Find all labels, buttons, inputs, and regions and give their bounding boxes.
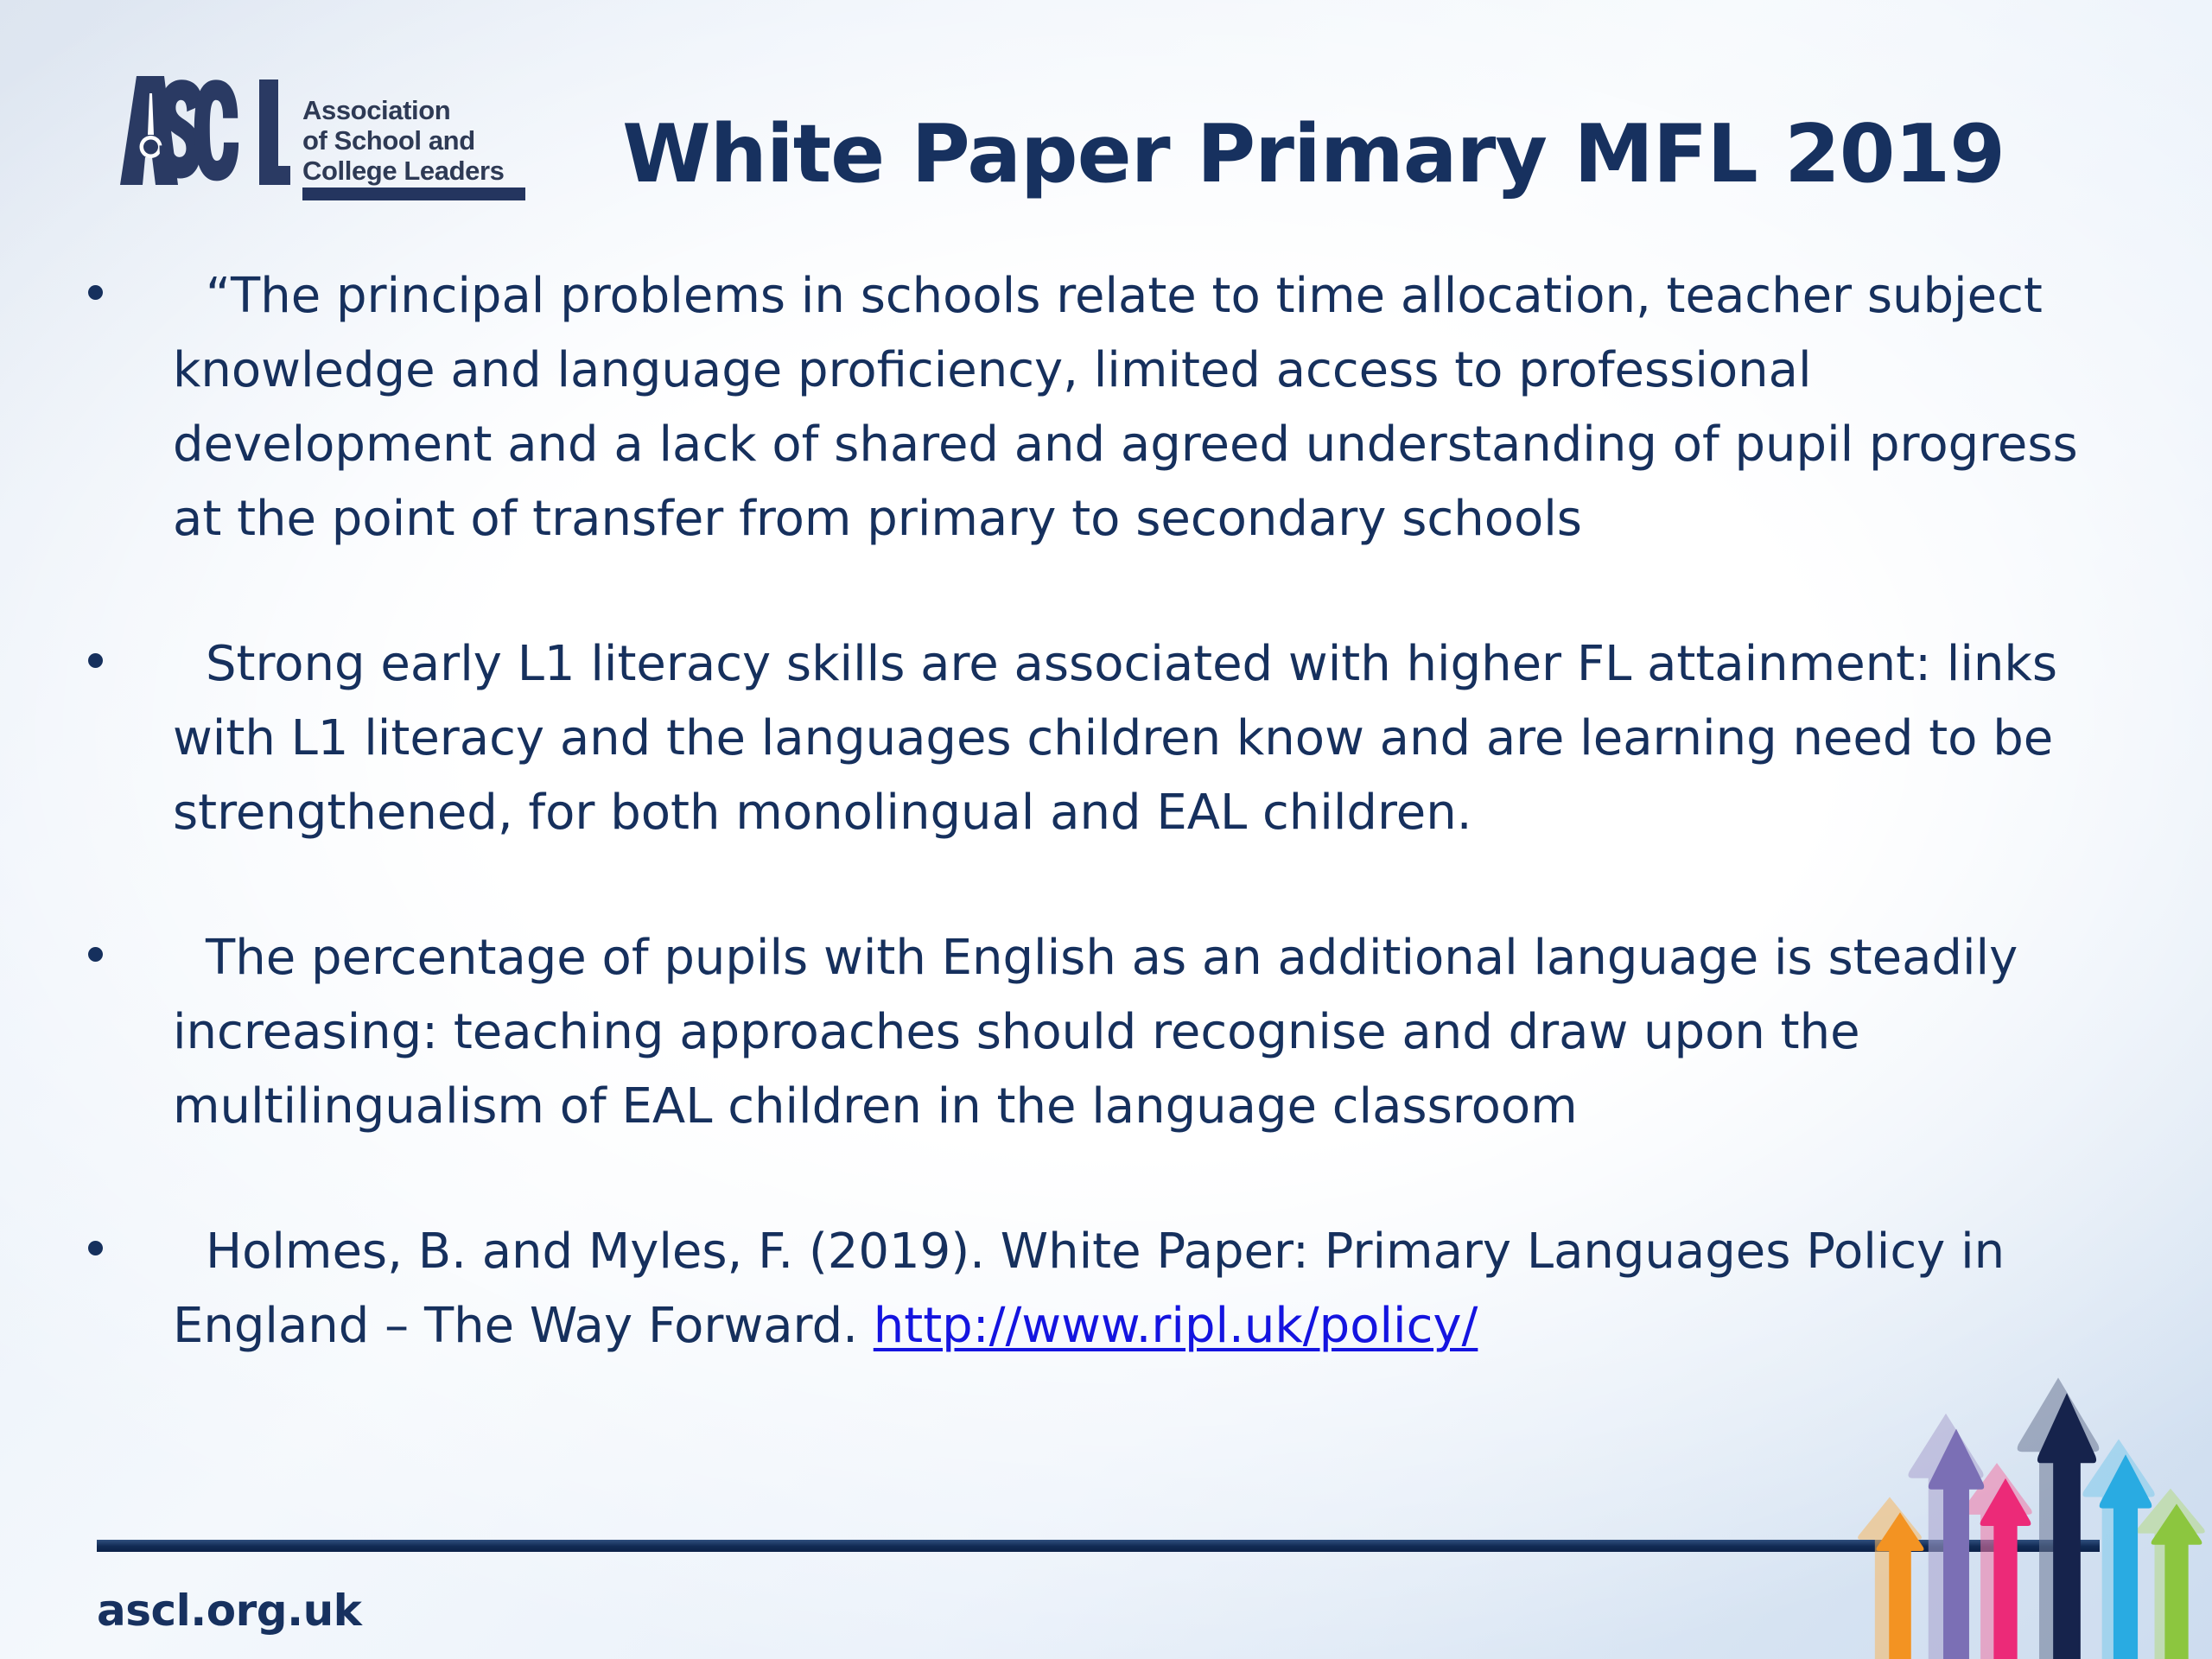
bullet-dot-icon [88,285,103,300]
navy-arrow [2037,1393,2096,1659]
logo-underline-bar [302,188,525,200]
logo-word-line-2: of School and [302,125,525,156]
ascl-logo-wordmark: Association of School and College Leader… [302,95,525,186]
green-arrow-shadow [2136,1489,2205,1659]
bullet-text-reference: Holmes, B. and Myles, F. (2019). White P… [173,1215,2108,1363]
ascl-logo: Association of School and College Leader… [111,74,524,200]
bullet-text: “The principal problems in schools relat… [173,259,2108,556]
ascl-logo-mark-icon [111,74,292,187]
bullet-text: The percentage of pupils with English as… [173,921,2108,1144]
slide-header: Association of School and College Leader… [0,0,2212,242]
footer-website-url: ascl.org.uk [97,1586,361,1635]
ripl-policy-link[interactable]: http://www.ripl.uk/policy/ [874,1298,1478,1354]
orange-arrow-shadow [1858,1497,1922,1659]
bullet-item-eal-percentage: The percentage of pupils with English as… [0,921,2108,1144]
slide-canvas: Association of School and College Leader… [0,0,2212,1659]
blue-arrow [2100,1454,2152,1659]
orange-arrow [1877,1512,1924,1659]
bullet-item-principal-problems: “The principal problems in schools relat… [0,259,2108,556]
bullet-item-reference: Holmes, B. and Myles, F. (2019). White P… [0,1215,2108,1363]
bullet-dot-icon [88,653,103,668]
logo-word-line-3: College Leaders [302,156,525,186]
bullet-text: Strong early L1 literacy skills are asso… [173,627,2108,850]
bullet-dot-icon [88,1241,103,1255]
page-title: White Paper Primary MFL 2019 [518,111,2108,197]
bullet-dot-icon [88,947,103,962]
green-arrow [2152,1503,2202,1659]
bullet-list: “The principal problems in schools relat… [0,259,2108,1363]
logo-word-line-1: Association [302,95,525,125]
navy-arrow-shadow [2018,1377,2100,1659]
bullet-item-l1-literacy: Strong early L1 literacy skills are asso… [0,627,2108,850]
pink-arrow [1980,1478,2031,1659]
upward-arrows-graphic [1849,1365,2212,1659]
footer-divider [97,1540,2100,1552]
purple-arrow-shadow [1908,1414,1983,1659]
pink-arrow-shadow [1961,1463,2031,1659]
